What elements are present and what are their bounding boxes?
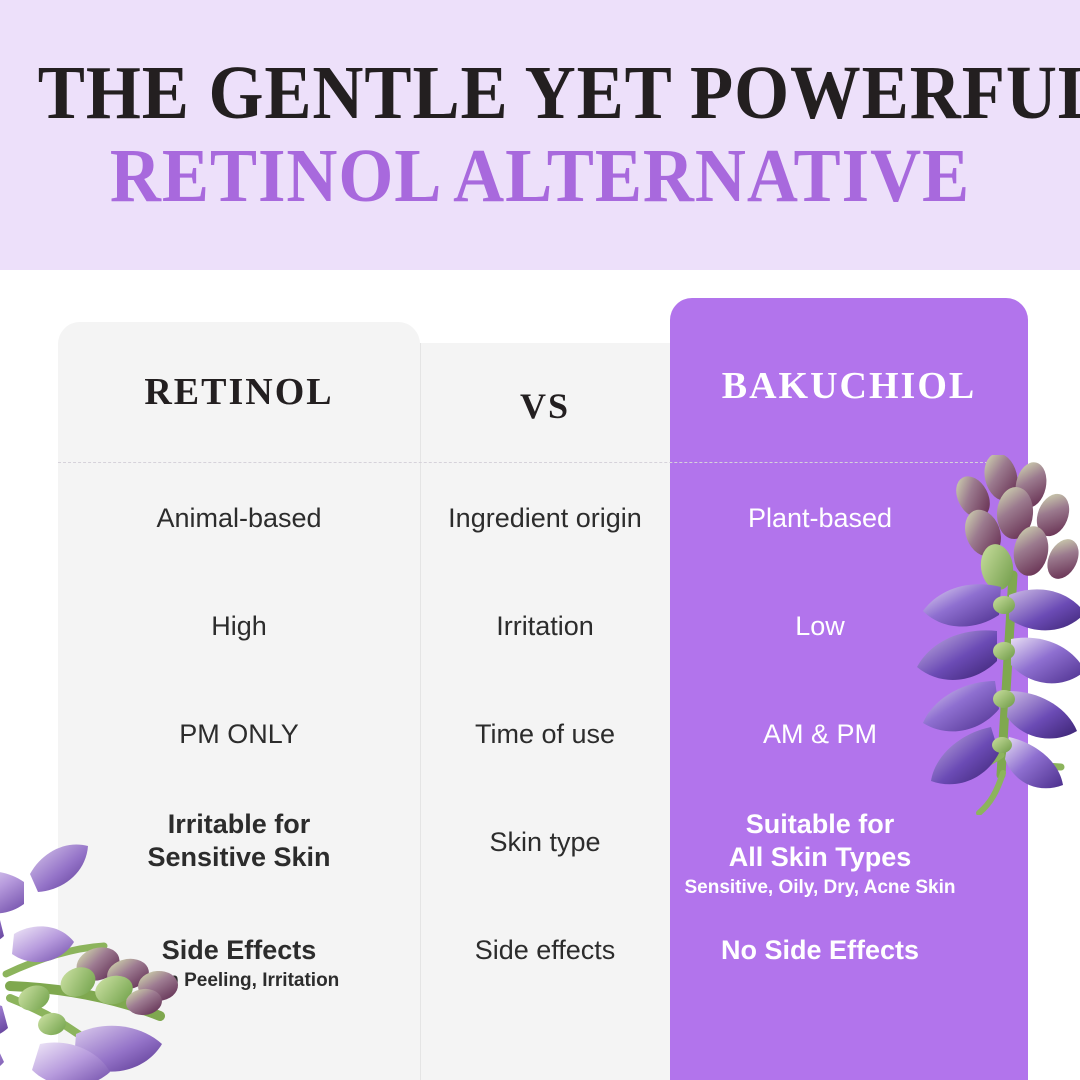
cell-retinol: Irritable for Sensitive Skin	[58, 808, 420, 874]
column-title-vs: VS	[420, 385, 670, 427]
column-divider-vertical	[420, 343, 421, 1080]
cell-bakuchiol: No Side Effects	[670, 934, 1028, 967]
cell-retinol: Animal-based	[58, 502, 420, 535]
headline-primary: THE GENTLE YET POWERFUL	[38, 55, 1042, 131]
cell-attribute: Side effects	[420, 934, 670, 967]
cell-retinol: High	[58, 610, 420, 643]
cell-bakuchiol-text: Low	[641, 610, 999, 643]
cell-retinol-text: Side Effects	[162, 935, 317, 965]
cell-bakuchiol-text: Suitable for All Skin Types	[729, 809, 912, 872]
cell-retinol-subtext: Skin Peeling, Irritation	[58, 969, 420, 992]
cell-bakuchiol-subtext: Sensitive, Oily, Dry, Acne Skin	[641, 876, 999, 899]
comparison-table: RETINOL VS BAKUCHIOL Animal-based Ingred…	[0, 270, 1080, 1080]
cell-bakuchiol-text: AM & PM	[641, 718, 999, 751]
infographic-canvas: THE GENTLE YET POWERFUL RETINOL ALTERNAT…	[0, 0, 1080, 1080]
cell-bakuchiol: AM & PM	[670, 718, 1028, 751]
cell-attribute: Ingredient origin	[420, 502, 670, 535]
cell-bakuchiol: Suitable for All Skin Types Sensitive, O…	[670, 808, 1028, 899]
cell-bakuchiol: Plant-based	[670, 502, 1028, 535]
cell-attribute: Skin type	[420, 826, 670, 859]
cell-retinol: PM ONLY	[58, 718, 420, 751]
header-divider-dashed	[58, 462, 1008, 463]
column-title-retinol: RETINOL	[58, 370, 420, 414]
column-title-bakuchiol: BAKUCHIOL	[670, 364, 1028, 408]
headline-secondary: RETINOL ALTERNATIVE	[38, 138, 1042, 214]
cell-bakuchiol: Low	[670, 610, 1028, 643]
header-band: THE GENTLE YET POWERFUL RETINOL ALTERNAT…	[0, 0, 1080, 270]
cell-attribute: Time of use	[420, 718, 670, 751]
cell-retinol: Side Effects Skin Peeling, Irritation	[58, 934, 420, 992]
column-card-attributes	[420, 343, 670, 1080]
cell-bakuchiol-text: No Side Effects	[641, 934, 999, 967]
cell-attribute: Irritation	[420, 610, 670, 643]
cell-bakuchiol-text: Plant-based	[641, 502, 999, 535]
